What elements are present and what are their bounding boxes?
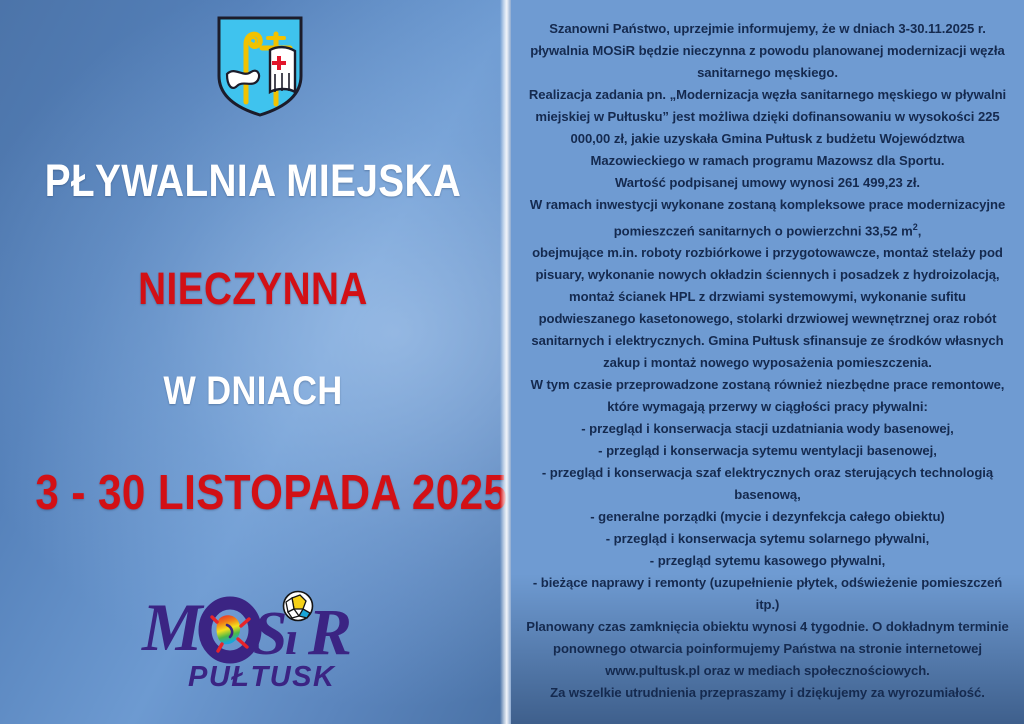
pultusk-coat-of-arms-icon [213,14,307,118]
notice-paragraph: - przegląd i konserwacja szaf elektryczn… [524,462,1011,506]
svg-text:S: S [253,600,287,668]
mosir-logo: M S ı [140,588,372,694]
notice-paragraph: - przegląd i konserwacja stacji uzdatnia… [524,418,1011,440]
notice-paragraph: Wartość podpisanej umowy wynosi 261 499,… [524,172,1011,194]
headline-facility: PŁYWALNIA MIEJSKA [35,158,470,203]
notice-paragraph: - bieżące naprawy i remonty (uzupełnieni… [524,572,1011,616]
poster-root: PŁYWALNIA MIEJSKA NIECZYNNA W DNIACH 3 -… [0,0,1024,724]
notice-paragraph: - generalne porządki (mycie i dezynfekcj… [524,506,1011,528]
headline-date-range: 3 - 30 LISTOPADA 2025 [35,469,470,518]
headline-dates-label: W DNIACH [35,371,470,411]
headline-block: PŁYWALNIA MIEJSKA NIECZYNNA W DNIACH 3 -… [0,158,506,518]
right-panel: Szanowni Państwo, uprzejmie informujemy,… [511,0,1024,724]
notice-paragraph: - przegląd i konserwacja sytemu solarneg… [524,528,1011,550]
notice-paragraph: W ramach inwestycji wykonane zostaną kom… [524,194,1011,242]
notice-paragraph: Za wszelkie utrudnienia przepraszamy i d… [524,682,1011,704]
notice-paragraph: - przegląd sytemu kasowego pływalni, [524,550,1011,572]
svg-text:R: R [307,596,352,669]
notice-paragraph: obejmujące m.in. roboty rozbiórkowe i pr… [524,242,1011,374]
notice-paragraph: - przegląd i konserwacja sytemu wentylac… [524,440,1011,462]
left-panel: PŁYWALNIA MIEJSKA NIECZYNNA W DNIACH 3 -… [0,0,506,724]
notice-paragraph: Planowany czas zamknięcia obiektu wynosi… [524,616,1011,682]
notice-paragraph: Realizacja zadania pn. „Modernizacja węz… [524,84,1011,172]
notice-paragraph: Szanowni Państwo, uprzejmie informujemy,… [524,18,1011,84]
svg-text:M: M [141,589,205,665]
headline-status: NIECZYNNA [35,266,470,311]
notice-paragraph: W tym czasie przeprowadzone zostaną równ… [524,374,1011,396]
svg-text:PUŁTUSK: PUŁTUSK [188,661,336,693]
notice-paragraph: które wymagają przerwy w ciągłości pracy… [524,396,1011,418]
notice-text-block: Szanowni Państwo, uprzejmie informujemy,… [524,18,1011,704]
